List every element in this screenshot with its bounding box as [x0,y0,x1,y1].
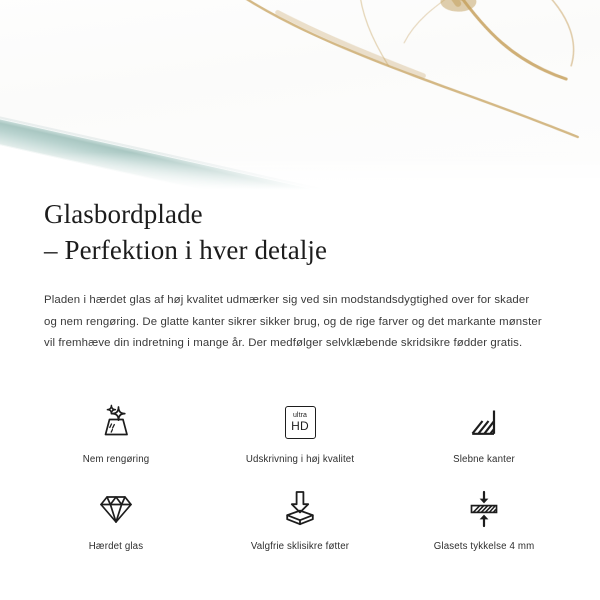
feature-item-thickness: Glasets tykkelse 4 mm [392,487,576,574]
feature-item-print-quality: ultra HD Udskrivning i høj kvalitet [208,400,392,487]
sparkle-surface-icon [96,400,136,444]
feature-item-anti-slip-feet: Valgfrie sklisikre føtter [208,487,392,574]
feature-item-easy-cleaning: Nem rengøring [24,400,208,487]
feature-label: Slebne kanter [453,453,515,466]
copy-block: Glasbordplade – Perfektion i hver detalj… [0,196,600,355]
arrow-onto-pad-icon [279,487,321,531]
feature-label: Valgfrie sklisikre føtter [251,540,349,553]
feature-label: Hærdet glas [89,540,143,553]
thickness-arrows-icon [464,487,504,531]
hatched-triangle-edge-icon [466,400,502,444]
product-info-page: Glasbordplade – Perfektion i hver detalj… [0,0,600,600]
ultra-hd-badge-top: ultra [293,412,307,419]
diamond-icon [94,487,138,531]
feature-label: Udskrivning i høj kvalitet [246,453,354,466]
ultra-hd-badge-bottom: HD [291,420,309,432]
ultra-hd-badge: ultra HD [285,406,316,439]
feature-label: Nem rengøring [83,453,150,466]
feature-item-polished-edges: Slebne kanter [392,400,576,487]
ultra-hd-icon: ultra HD [285,400,316,444]
feature-label: Glasets tykkelse 4 mm [434,540,535,553]
hero-product-image [0,0,600,196]
feature-grid: Nem rengøring ultra HD Udskrivning i høj… [0,400,600,574]
hero-stage [0,0,600,196]
page-title: Glasbordplade – Perfektion i hver detalj… [44,196,556,268]
hero-bottom-fade [0,152,600,196]
product-description: Pladen i hærdet glas af høj kvalitet udm… [44,290,542,355]
feature-item-tempered-glass: Hærdet glas [24,487,208,574]
